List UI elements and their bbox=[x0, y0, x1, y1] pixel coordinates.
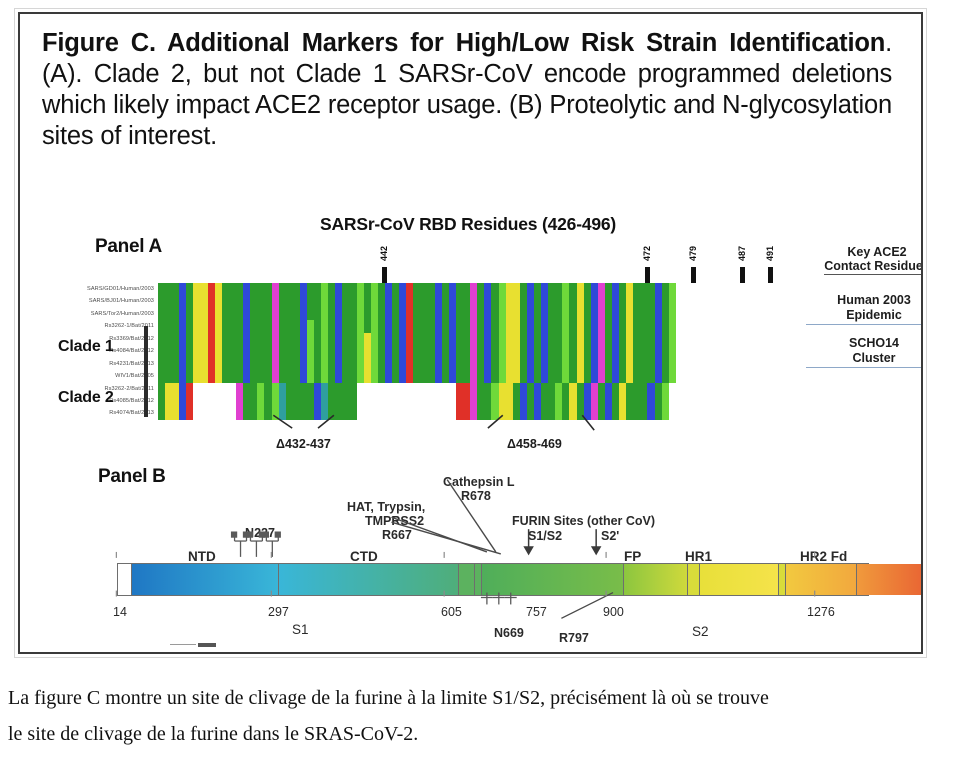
residue-number-479: 479 bbox=[689, 246, 698, 261]
alignment-cell bbox=[640, 407, 647, 419]
alignment-cell bbox=[193, 345, 200, 357]
alignment-cell bbox=[513, 333, 520, 345]
strain-label: SARS/GD01/Human/2003 bbox=[87, 283, 158, 295]
alignment-cell bbox=[569, 308, 576, 320]
alignment-cell bbox=[321, 345, 328, 357]
alignment-cell bbox=[463, 383, 470, 395]
alignment-cell bbox=[215, 383, 222, 395]
alignment-cell bbox=[577, 370, 584, 382]
alignment-cell bbox=[435, 383, 442, 395]
alignment-cell bbox=[236, 345, 243, 357]
deletion-label-2: Δ458-469 bbox=[507, 437, 562, 451]
alignment-cell bbox=[569, 383, 576, 395]
alignment-cell bbox=[208, 383, 215, 395]
alignment-cell bbox=[250, 283, 257, 295]
alignment-cell bbox=[314, 370, 321, 382]
alignment-cell bbox=[456, 283, 463, 295]
alignment-cell bbox=[307, 345, 314, 357]
alignment-cell bbox=[378, 333, 385, 345]
alignment-cell bbox=[286, 407, 293, 419]
alignment-cell bbox=[357, 407, 364, 419]
alignment-cell bbox=[392, 395, 399, 407]
clade-bracket-2 bbox=[144, 377, 148, 417]
alignment-cell bbox=[626, 383, 633, 395]
alignment-cell bbox=[619, 370, 626, 382]
alignment-cell bbox=[555, 295, 562, 307]
alignment-cell bbox=[335, 407, 342, 419]
alignment-cell bbox=[229, 395, 236, 407]
alignment-cell bbox=[300, 308, 307, 320]
alignment-cell bbox=[484, 407, 491, 419]
alignment-cell bbox=[378, 358, 385, 370]
alignment-cell bbox=[633, 370, 640, 382]
alignment-cell bbox=[428, 308, 435, 320]
alignment-cell bbox=[172, 295, 179, 307]
alignment-cell bbox=[541, 333, 548, 345]
alignment-cell bbox=[477, 320, 484, 332]
alignment-cell bbox=[272, 320, 279, 332]
alignment-cell bbox=[456, 407, 463, 419]
domain-segment-7 bbox=[624, 564, 688, 595]
alignment-cell bbox=[321, 370, 328, 382]
alignment-cell bbox=[541, 345, 548, 357]
alignment-cell bbox=[385, 308, 392, 320]
alignment-cell bbox=[314, 295, 321, 307]
alignment-cell bbox=[605, 345, 612, 357]
alignment-cell bbox=[406, 345, 413, 357]
figure-inner-border: Figure C. Additional Markers for High/Lo… bbox=[18, 12, 923, 654]
alignment-cell bbox=[484, 320, 491, 332]
alignment-cell bbox=[279, 383, 286, 395]
alignment-row: Rs4231/Bat/2013 bbox=[158, 358, 668, 370]
alignment-cell bbox=[186, 320, 193, 332]
alignment-cell bbox=[477, 358, 484, 370]
alignment-cell bbox=[335, 283, 342, 295]
alignment-cell bbox=[385, 345, 392, 357]
alignment-cell bbox=[548, 370, 555, 382]
alignment-cell bbox=[534, 358, 541, 370]
alignment-cell bbox=[527, 395, 534, 407]
alignment-cell bbox=[449, 370, 456, 382]
sequence-alignment: SARS/GD01/Human/2003SARS/BJ01/Human/2003… bbox=[158, 283, 668, 420]
alignment-cell bbox=[328, 308, 335, 320]
alignment-cell bbox=[484, 395, 491, 407]
alignment-cell bbox=[584, 345, 591, 357]
alignment-cell bbox=[584, 295, 591, 307]
alignment-cell bbox=[463, 295, 470, 307]
alignment-cell bbox=[548, 283, 555, 295]
alignment-cell bbox=[527, 370, 534, 382]
alignment-cell bbox=[662, 308, 669, 320]
alignment-cell bbox=[158, 333, 165, 345]
alignment-cell bbox=[371, 370, 378, 382]
alignment-cell bbox=[428, 383, 435, 395]
axis-number-3: 605 bbox=[441, 605, 462, 619]
alignment-cell bbox=[229, 320, 236, 332]
alignment-cell bbox=[328, 383, 335, 395]
alignment-cell bbox=[392, 295, 399, 307]
deletion-label-1: Δ432-437 bbox=[276, 437, 331, 451]
alignment-cell bbox=[435, 308, 442, 320]
body-text-line-2: le site de clivage de la furine dans le … bbox=[8, 716, 938, 752]
alignment-cell bbox=[669, 358, 676, 370]
alignment-cell bbox=[605, 295, 612, 307]
alignment-cell bbox=[428, 395, 435, 407]
alignment-cell bbox=[307, 407, 314, 419]
alignment-cell bbox=[406, 383, 413, 395]
alignment-cell bbox=[491, 295, 498, 307]
alignment-cell bbox=[186, 395, 193, 407]
alignment-cell bbox=[662, 383, 669, 395]
alignment-cell bbox=[321, 333, 328, 345]
alignment-cell bbox=[463, 283, 470, 295]
alignment-cell bbox=[165, 320, 172, 332]
alignment-cell bbox=[357, 283, 364, 295]
alignment-cell bbox=[257, 320, 264, 332]
alignment-cell bbox=[527, 345, 534, 357]
alignment-cell bbox=[236, 308, 243, 320]
alignment-cell bbox=[193, 358, 200, 370]
alignment-cell bbox=[406, 395, 413, 407]
alignment-cell bbox=[236, 370, 243, 382]
alignment-cell bbox=[272, 370, 279, 382]
alignment-cell bbox=[165, 333, 172, 345]
alignment-cell bbox=[342, 383, 349, 395]
alignment-cell bbox=[612, 295, 619, 307]
alignment-cell bbox=[591, 295, 598, 307]
alignment-cell bbox=[413, 333, 420, 345]
alignment-cell bbox=[555, 358, 562, 370]
alignment-cell bbox=[591, 370, 598, 382]
alignment-cell bbox=[584, 407, 591, 419]
alignment-cell bbox=[655, 333, 662, 345]
alignment-cell bbox=[577, 295, 584, 307]
alignment-cell bbox=[442, 358, 449, 370]
alignment-cell bbox=[208, 283, 215, 295]
alignment-cell bbox=[442, 395, 449, 407]
alignment-cell bbox=[569, 283, 576, 295]
alignment-cell bbox=[222, 370, 229, 382]
alignment-cell bbox=[477, 308, 484, 320]
alignment-cell bbox=[342, 395, 349, 407]
alignment-cell bbox=[499, 320, 506, 332]
alignment-cell bbox=[371, 358, 378, 370]
alignment-cell bbox=[513, 308, 520, 320]
alignment-cell bbox=[413, 358, 420, 370]
alignment-cell bbox=[491, 308, 498, 320]
alignment-cell bbox=[477, 370, 484, 382]
alignment-cell bbox=[215, 295, 222, 307]
alignment-cell bbox=[201, 345, 208, 357]
alignment-cell bbox=[385, 383, 392, 395]
alignment-cell bbox=[470, 395, 477, 407]
alignment-cell bbox=[420, 320, 427, 332]
alignment-cell bbox=[208, 308, 215, 320]
alignment-cell bbox=[165, 370, 172, 382]
alignment-cell bbox=[378, 308, 385, 320]
alignment-cell bbox=[357, 383, 364, 395]
alignment-cell bbox=[364, 395, 371, 407]
alignment-cell bbox=[307, 370, 314, 382]
alignment-cell bbox=[633, 345, 640, 357]
alignment-cell bbox=[655, 283, 662, 295]
alignment-cell bbox=[165, 308, 172, 320]
alignment-cell bbox=[193, 320, 200, 332]
alignment-cell bbox=[662, 395, 669, 407]
alignment-cell bbox=[612, 283, 619, 295]
alignment-cell bbox=[335, 370, 342, 382]
alignment-cell bbox=[406, 295, 413, 307]
alignment-cell bbox=[399, 308, 406, 320]
domain-segment-12 bbox=[857, 564, 923, 595]
alignment-cell bbox=[378, 345, 385, 357]
alignment-cell bbox=[662, 407, 669, 419]
alignment-cell bbox=[342, 308, 349, 320]
strain-group-1: Human 2003Epidemic bbox=[804, 293, 923, 322]
alignment-cell bbox=[250, 370, 257, 382]
alignment-cell bbox=[449, 308, 456, 320]
alignment-cell bbox=[272, 345, 279, 357]
alignment-cell bbox=[591, 383, 598, 395]
alignment-cell bbox=[243, 395, 250, 407]
alignment-cell bbox=[619, 407, 626, 419]
residue-tick-442 bbox=[382, 267, 387, 283]
alignment-cell bbox=[577, 333, 584, 345]
alignment-cell bbox=[286, 283, 293, 295]
alignment-cell bbox=[314, 320, 321, 332]
clade-label-1: Clade 1 bbox=[58, 338, 114, 356]
alignment-cell bbox=[633, 320, 640, 332]
strain-label: Rs4085/Bat/2012 bbox=[109, 395, 158, 407]
alignment-cell bbox=[463, 333, 470, 345]
alignment-cell bbox=[513, 295, 520, 307]
alignment-cell bbox=[562, 308, 569, 320]
alignment-cell bbox=[428, 320, 435, 332]
strain-label: Rs3369/Bat/2012 bbox=[109, 333, 158, 345]
alignment-cell bbox=[413, 407, 420, 419]
panel-a-label: Panel A bbox=[95, 236, 162, 258]
strain-label: Rs4084/Bat/2012 bbox=[109, 345, 158, 357]
alignment-cell bbox=[328, 333, 335, 345]
alignment-cell bbox=[321, 308, 328, 320]
alignment-cell bbox=[626, 345, 633, 357]
alignment-cell bbox=[364, 370, 371, 382]
alignment-cell bbox=[179, 407, 186, 419]
alignment-cell bbox=[236, 295, 243, 307]
alignment-cell bbox=[279, 358, 286, 370]
body-text: La figure C montre un site de clivage de… bbox=[8, 680, 938, 752]
alignment-cell bbox=[577, 383, 584, 395]
alignment-cell bbox=[548, 345, 555, 357]
alignment-cell bbox=[179, 283, 186, 295]
alignment-cell bbox=[598, 345, 605, 357]
alignment-cell bbox=[619, 383, 626, 395]
axis-number-2: 297 bbox=[268, 605, 289, 619]
subunit-label-1: S1 bbox=[292, 622, 309, 637]
alignment-cell bbox=[484, 370, 491, 382]
alignment-cell bbox=[378, 295, 385, 307]
alignment-cell bbox=[669, 295, 676, 307]
alignment-cell bbox=[534, 333, 541, 345]
panel-b-label: Panel B bbox=[98, 466, 166, 488]
alignment-cell bbox=[548, 407, 555, 419]
alignment-cell bbox=[257, 370, 264, 382]
scale-bar-block bbox=[198, 643, 216, 647]
alignment-cell bbox=[605, 370, 612, 382]
alignment-cell bbox=[236, 333, 243, 345]
alignment-cell bbox=[506, 295, 513, 307]
alignment-cell bbox=[534, 383, 541, 395]
residue-number-491: 491 bbox=[766, 246, 775, 261]
alignment-cell bbox=[619, 283, 626, 295]
alignment-cell bbox=[655, 295, 662, 307]
alignment-cell bbox=[548, 358, 555, 370]
alignment-cell bbox=[520, 407, 527, 419]
alignment-cell bbox=[193, 308, 200, 320]
alignment-cell bbox=[456, 383, 463, 395]
alignment-cell bbox=[264, 308, 271, 320]
alignment-cell bbox=[165, 345, 172, 357]
alignment-cell bbox=[208, 395, 215, 407]
alignment-cell bbox=[619, 345, 626, 357]
alignment-cell bbox=[584, 395, 591, 407]
alignment-cell bbox=[591, 358, 598, 370]
alignment-cell bbox=[158, 395, 165, 407]
alignment-cell bbox=[484, 308, 491, 320]
alignment-cell bbox=[399, 383, 406, 395]
alignment-cell bbox=[534, 320, 541, 332]
alignment-cell bbox=[264, 383, 271, 395]
alignment-cell bbox=[215, 370, 222, 382]
alignment-cell bbox=[165, 407, 172, 419]
body-text-line-1: La figure C montre un site de clivage de… bbox=[8, 680, 938, 716]
alignment-cell bbox=[591, 320, 598, 332]
alignment-cell bbox=[300, 345, 307, 357]
key-ace2-line2: Contact Residues bbox=[824, 259, 923, 275]
alignment-cell bbox=[605, 358, 612, 370]
alignment-cell bbox=[293, 320, 300, 332]
alignment-cell bbox=[619, 320, 626, 332]
alignment-cell bbox=[456, 295, 463, 307]
alignment-cell bbox=[619, 295, 626, 307]
alignment-cell bbox=[193, 295, 200, 307]
alignment-cell bbox=[612, 370, 619, 382]
alignment-cell bbox=[342, 345, 349, 357]
alignment-cell bbox=[236, 383, 243, 395]
alignment-cell bbox=[350, 308, 357, 320]
alignment-cell bbox=[647, 370, 654, 382]
strain-group-rule bbox=[806, 367, 923, 368]
alignment-cell bbox=[669, 333, 676, 345]
alignment-cell bbox=[279, 295, 286, 307]
alignment-cell bbox=[435, 395, 442, 407]
alignment-cell bbox=[264, 345, 271, 357]
alignment-cell bbox=[328, 370, 335, 382]
alignment-cell bbox=[420, 395, 427, 407]
alignment-cell bbox=[364, 295, 371, 307]
alignment-cell bbox=[165, 295, 172, 307]
alignment-cell bbox=[477, 333, 484, 345]
alignment-cell bbox=[378, 395, 385, 407]
alignment-cell bbox=[548, 308, 555, 320]
alignment-cell bbox=[640, 370, 647, 382]
alignment-cell bbox=[392, 358, 399, 370]
alignment-cell bbox=[399, 407, 406, 419]
alignment-cell bbox=[605, 320, 612, 332]
alignment-cell bbox=[335, 308, 342, 320]
alignment-cell bbox=[385, 358, 392, 370]
alignment-cell bbox=[222, 308, 229, 320]
scale-bar-dash bbox=[170, 644, 196, 645]
alignment-cell bbox=[640, 283, 647, 295]
alignment-cell bbox=[633, 333, 640, 345]
alignment-cell bbox=[222, 283, 229, 295]
alignment-cell bbox=[179, 295, 186, 307]
domain-segment-4 bbox=[459, 564, 476, 595]
alignment-cell bbox=[612, 395, 619, 407]
alignment-cell bbox=[548, 320, 555, 332]
alignment-cell bbox=[279, 320, 286, 332]
alignment-cell bbox=[257, 333, 264, 345]
alignment-cell bbox=[186, 345, 193, 357]
alignment-cell bbox=[293, 383, 300, 395]
alignment-cell bbox=[562, 383, 569, 395]
alignment-cell bbox=[647, 395, 654, 407]
alignment-cell bbox=[619, 395, 626, 407]
alignment-cell bbox=[293, 283, 300, 295]
alignment-cell bbox=[158, 295, 165, 307]
alignment-cell bbox=[158, 283, 165, 295]
alignment-cell bbox=[328, 345, 335, 357]
alignment-cell bbox=[477, 283, 484, 295]
alignment-cell bbox=[229, 283, 236, 295]
alignment-cell bbox=[371, 320, 378, 332]
alignment-cell bbox=[364, 383, 371, 395]
alignment-cell bbox=[307, 283, 314, 295]
alignment-cell bbox=[499, 283, 506, 295]
alignment-cell bbox=[279, 333, 286, 345]
alignment-cell bbox=[463, 395, 470, 407]
alignment-cell bbox=[435, 320, 442, 332]
alignment-cell bbox=[513, 395, 520, 407]
alignment-cell bbox=[499, 395, 506, 407]
alignment-cell bbox=[328, 407, 335, 419]
alignment-cell bbox=[321, 395, 328, 407]
alignment-cell bbox=[350, 407, 357, 419]
alignment-cell bbox=[499, 333, 506, 345]
alignment-cell bbox=[541, 295, 548, 307]
alignment-cell bbox=[385, 320, 392, 332]
alignment-cell bbox=[236, 358, 243, 370]
alignment-cell bbox=[186, 370, 193, 382]
alignment-cell bbox=[647, 358, 654, 370]
alignment-cell bbox=[208, 407, 215, 419]
alignment-cell bbox=[243, 308, 250, 320]
alignment-cell bbox=[491, 407, 498, 419]
alignment-cell bbox=[562, 283, 569, 295]
alignment-cell bbox=[633, 358, 640, 370]
alignment-cell bbox=[272, 395, 279, 407]
alignment-cell bbox=[222, 333, 229, 345]
alignment-cell bbox=[335, 395, 342, 407]
alignment-cell bbox=[420, 308, 427, 320]
alignment-cell bbox=[647, 308, 654, 320]
alignment-cell bbox=[562, 320, 569, 332]
alignment-cell bbox=[442, 308, 449, 320]
panel-b-annotation-4: Cathepsin L bbox=[443, 475, 515, 489]
alignment-cell bbox=[392, 308, 399, 320]
alignment-row: Rs3369/Bat/2012 bbox=[158, 333, 668, 345]
